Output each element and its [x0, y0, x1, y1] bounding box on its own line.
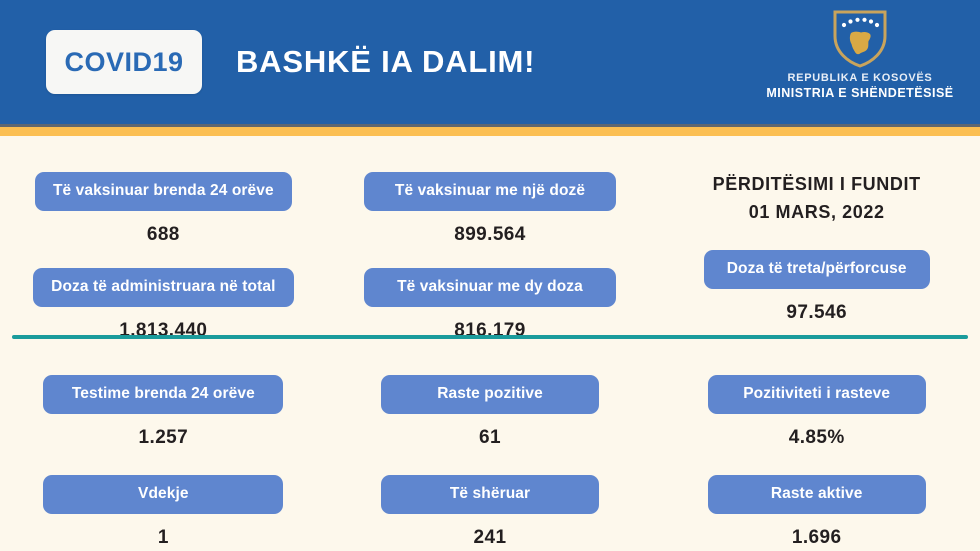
dashboard-content: Të vaksinuar brenda 24 orëve 688 Doza të…	[0, 136, 980, 551]
stat-label: Të vaksinuar me një dozë	[364, 172, 616, 211]
stat-label: Testime brenda 24 orëve	[43, 375, 283, 414]
vaccination-column-1: Të vaksinuar brenda 24 orëve 688 Doza të…	[0, 172, 327, 342]
stat-positive-cases: Raste pozitive 61	[381, 375, 599, 449]
stat-tests-24h: Testime brenda 24 orëve 1.257	[43, 375, 283, 449]
last-update-date: 01 MARS, 2022	[713, 202, 921, 223]
stat-total-doses: Doza të administruara në total 1.813.440	[33, 268, 293, 342]
vaccination-column-3: PËRDITËSIMI I FUNDIT 01 MARS, 2022 Doza …	[653, 172, 980, 342]
stat-value: 1	[158, 527, 169, 549]
last-update-title: PËRDITËSIMI I FUNDIT	[713, 174, 921, 195]
stat-active-cases: Raste aktive 1.696	[708, 475, 926, 549]
stat-value: 688	[147, 224, 180, 246]
stat-one-dose: Të vaksinuar me një dozë 899.564	[364, 172, 616, 246]
kosovo-coat-of-arms-icon	[827, 6, 893, 70]
cases-column-1: Testime brenda 24 orëve 1.257 Vdekje 1	[0, 375, 327, 549]
stat-label: Raste pozitive	[381, 375, 599, 414]
stat-value: 97.546	[786, 302, 847, 324]
stat-label: Të vaksinuar brenda 24 orëve	[35, 172, 292, 211]
stat-booster-doses: Doza të treta/përforcuse 97.546	[704, 250, 930, 324]
cases-column-2: Raste pozitive 61 Të shëruar 241	[327, 375, 654, 549]
covid19-logo-badge: COVID19	[46, 30, 202, 94]
stat-value: 61	[479, 427, 501, 449]
stat-label: Raste aktive	[708, 475, 926, 514]
stat-value: 899.564	[454, 224, 525, 246]
cases-stats-section: Testime brenda 24 orëve 1.257 Vdekje 1 R…	[0, 342, 980, 549]
stat-label: Doza të administruara në total	[33, 268, 293, 307]
stat-value: 1.257	[139, 427, 189, 449]
vaccination-stats-section: Të vaksinuar brenda 24 orëve 688 Doza të…	[0, 136, 980, 342]
vaccination-column-2: Të vaksinuar me një dozë 899.564 Të vaks…	[327, 172, 654, 342]
stat-deaths: Vdekje 1	[43, 475, 283, 549]
stat-positivity-rate: Pozitiviteti i rasteve 4.85%	[708, 375, 926, 449]
stat-label: Të shëruar	[381, 475, 599, 514]
stat-label: Vdekje	[43, 475, 283, 514]
ministry-name-label: MINISTRIA E SHËNDETËSISË	[754, 86, 966, 100]
section-divider	[12, 335, 968, 339]
header-slogan: BASHKË IA DALIM!	[236, 44, 535, 80]
stat-value: 241	[474, 527, 507, 549]
stat-label: Të vaksinuar me dy doza	[364, 268, 616, 307]
covid19-logo-text: COVID19	[64, 47, 183, 78]
page-header: COVID19 BASHKË IA DALIM! REPUBLIKA E KOS…	[0, 0, 980, 124]
stat-value: 1.696	[792, 527, 842, 549]
ministry-country-label: REPUBLIKA E KOSOVËS	[754, 72, 966, 84]
stat-label: Doza të treta/përforcuse	[704, 250, 930, 289]
stat-recovered: Të shëruar 241	[381, 475, 599, 549]
stat-label: Pozitiviteti i rasteve	[708, 375, 926, 414]
stat-value: 4.85%	[789, 427, 845, 449]
ministry-branding: REPUBLIKA E KOSOVËS MINISTRIA E SHËNDETË…	[754, 6, 966, 100]
last-update-block: PËRDITËSIMI I FUNDIT 01 MARS, 2022	[713, 172, 921, 223]
stat-vaccinated-24h: Të vaksinuar brenda 24 orëve 688	[35, 172, 292, 246]
cases-column-3: Pozitiviteti i rasteve 4.85% Raste aktiv…	[653, 375, 980, 549]
stat-two-doses: Të vaksinuar me dy doza 816.179	[364, 268, 616, 342]
header-yellow-stripe	[0, 127, 980, 136]
